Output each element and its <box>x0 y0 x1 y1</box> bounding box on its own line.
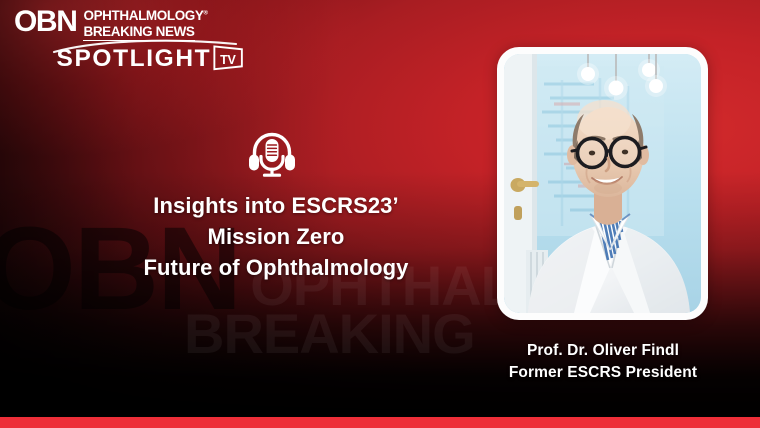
microphone-headphones-icon <box>246 130 298 178</box>
speaker-portrait-photo <box>504 54 701 313</box>
speaker-caption: Prof. Dr. Oliver Findl Former ESCRS Pres… <box>478 340 728 384</box>
obn-logo[interactable]: OBN OPHTHALMOLOGY® BREAKING NEWS SPOTLIG… <box>14 8 244 73</box>
spotlight-tv-lockup[interactable]: SPOTLIGHT TV <box>58 45 244 73</box>
tv-screen-badge-icon: TV <box>212 45 244 72</box>
portrait-illustration <box>504 54 701 313</box>
podcast-icon-svg <box>246 130 298 178</box>
logo-breaking-news-text: BREAKING NEWS <box>83 25 194 41</box>
logo-obn-mark: OBN <box>14 8 76 36</box>
video-thumbnail-stage: OBN OPHTHAL BREAKING OBN OPHTHALMOLOGY® … <box>0 0 760 428</box>
title-line-3: Future of Ophthalmology <box>26 252 526 283</box>
bottom-accent-bar <box>0 417 760 428</box>
logo-line1: OPHTHALMOLOGY <box>83 8 203 23</box>
speaker-role: Former ESCRS President <box>478 362 728 384</box>
logo-ophthalmology-text: OPHTHALMOLOGY® <box>83 9 207 23</box>
title-line-2: Mission Zero <box>26 221 526 252</box>
tv-badge-label: TV <box>212 45 244 72</box>
speaker-portrait-frame <box>497 47 708 320</box>
spotlight-wordmark: SPOTLIGHT <box>56 45 211 73</box>
speaker-name: Prof. Dr. Oliver Findl <box>478 340 728 362</box>
registered-trademark-icon: ® <box>204 11 208 17</box>
title-line-1: Insights into ESCRS23’ <box>26 190 526 221</box>
episode-title: Insights into ESCRS23’ Mission Zero Futu… <box>26 190 526 284</box>
